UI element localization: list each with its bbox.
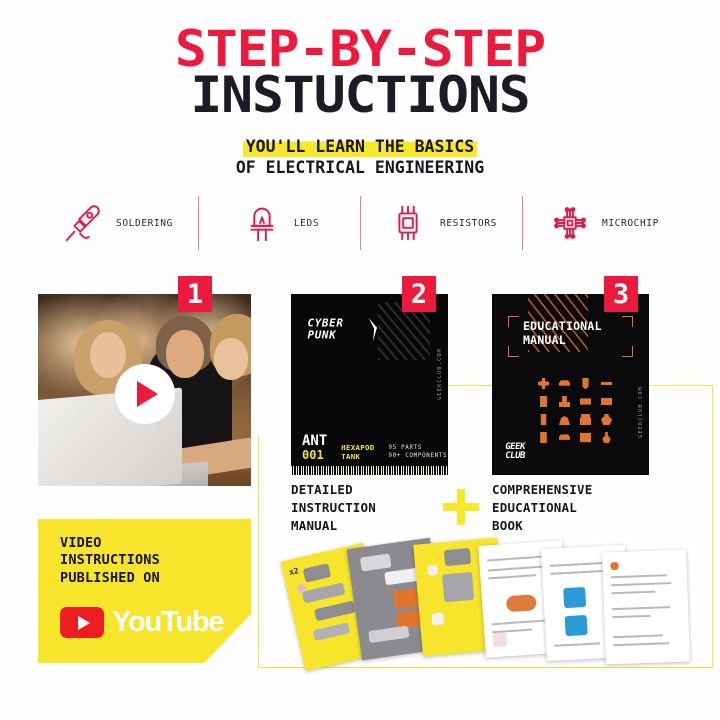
plus-icon <box>443 489 479 525</box>
subtitle-line-1: YOU'LL LEARN THE BASICS <box>243 138 477 157</box>
feature-leds: LEDS <box>198 190 360 256</box>
component-icon <box>580 378 591 389</box>
component-icon <box>538 414 549 425</box>
geek-club-logo: GEEK CLUB <box>505 443 525 461</box>
page-art <box>565 615 588 636</box>
corner-bracket-bl <box>508 346 519 357</box>
page-label: x2 <box>288 566 299 577</box>
page-art <box>444 548 471 566</box>
feature-resistors: RESISTORS <box>360 190 522 256</box>
corner-bracket-br <box>622 346 633 357</box>
youtube-wordmark: YouTube <box>112 606 223 639</box>
book-title: EDUCATIONAL MANUAL <box>523 320 602 347</box>
book-title-line-2: MANUAL <box>523 334 602 348</box>
led-icon <box>239 200 285 246</box>
caption-instruction-manual: DETAILED INSTRUCTION MANUAL <box>291 481 376 535</box>
variant-line-2: TANK <box>341 452 374 461</box>
youtube-play-icon <box>60 607 104 638</box>
feature-list: SOLDERING LEDS <box>36 190 684 256</box>
person-2-face <box>166 330 204 378</box>
video-thumbnail[interactable] <box>38 294 251 486</box>
caption-right-line-2: EDUCATIONAL <box>492 499 592 517</box>
page-art <box>563 587 586 608</box>
caption-right-line-1: COMPREHENSIVE <box>492 481 592 499</box>
page-spread: x2 <box>292 532 692 677</box>
step-badge-3: 3 <box>604 276 638 312</box>
component-icon <box>559 378 570 389</box>
component-icon <box>601 396 612 407</box>
logo-slash <box>369 318 377 341</box>
person-1-face <box>90 332 126 378</box>
caption-left-line-2: INSTRUCTION <box>291 499 376 517</box>
person-3-face <box>214 338 248 380</box>
play-icon <box>137 381 158 407</box>
educational-book-cover: EDUCATIONAL MANUAL GEEKCLUB.COM GEEK CLU… <box>492 294 649 475</box>
component-icon <box>601 378 612 389</box>
feature-label-leds: LEDS <box>294 218 319 229</box>
subtitle-line-2: OF ELECTRICAL ENGINEERING <box>0 158 720 178</box>
youtube-line-3: PUBLISHED ON <box>60 570 160 587</box>
book-website: GEEKCLUB.COM <box>638 386 644 438</box>
page-art <box>427 565 438 576</box>
model-name: ANT <box>302 434 327 448</box>
variant-block: HEXAPOD TANK <box>341 443 374 461</box>
caption-educational-book: COMPREHENSIVE EDUCATIONAL BOOK <box>492 481 592 535</box>
brand-line-2: PUNK <box>307 329 337 342</box>
soldering-iron-icon <box>61 200 107 246</box>
page-art <box>303 563 331 582</box>
step-badge-1: 1 <box>178 276 212 312</box>
component-icon <box>559 432 570 443</box>
youtube-panel[interactable]: VIDEO INSTRUCTIONS PUBLISHED ON YouTube <box>38 519 251 663</box>
barcode-strip <box>291 466 448 475</box>
youtube-panel-text: VIDEO INSTRUCTIONS PUBLISHED ON <box>60 535 160 587</box>
infographic-canvas: STEP-BY-STEP INSTUCTIONS YOU'LL LEARN TH… <box>0 0 720 720</box>
model-number: 001 <box>302 449 327 461</box>
spec-line-2: 90+ COMPONENTS <box>389 453 448 461</box>
page-art <box>492 632 507 647</box>
component-icon <box>601 414 612 425</box>
feature-label-resistors: RESISTORS <box>440 218 497 229</box>
cyberpunk-logo: CYBER PUNK <box>305 314 389 344</box>
corner-bracket-tr <box>622 316 633 327</box>
corner-bracket-tl <box>508 316 519 327</box>
page-art <box>368 626 409 643</box>
variant-line-1: HEXAPOD <box>341 443 374 452</box>
brand-line-1: CYBER <box>307 316 343 329</box>
microchip-icon <box>547 200 593 246</box>
component-icon <box>580 396 591 407</box>
youtube-line-1: VIDEO <box>60 535 160 552</box>
youtube-logo[interactable]: YouTube <box>60 606 223 639</box>
page-art <box>393 588 419 609</box>
component-icon <box>580 432 591 443</box>
logo-line-2: CLUB <box>504 452 525 461</box>
component-icon <box>580 414 591 425</box>
component-icon <box>559 396 570 407</box>
page-art <box>302 582 346 603</box>
subtitle: YOU'LL LEARN THE BASICS OF ELECTRICAL EN… <box>0 138 720 178</box>
manual-footer: ANT 001 HEXAPOD TANK 95 PARTS 90+ COMPON… <box>302 434 440 461</box>
feature-microchip: MICROCHIP <box>522 190 684 256</box>
feature-label-soldering: SOLDERING <box>116 218 173 229</box>
resistor-icon <box>385 200 431 246</box>
page-art <box>360 553 392 571</box>
component-icon-grid <box>538 378 614 443</box>
book-title-line-1: EDUCATIONAL <box>523 320 602 334</box>
page-art <box>506 594 537 612</box>
component-icon <box>559 414 570 425</box>
page-art <box>313 622 351 641</box>
step-badge-2: 2 <box>402 276 436 312</box>
feature-label-microchip: MICROCHIP <box>602 218 659 229</box>
instruction-manual-cover: CYBER PUNK GEEKCLUB.COM ANT 001 HEXAPOD … <box>291 294 448 475</box>
page-title: STEP-BY-STEP INSTUCTIONS <box>0 26 720 118</box>
youtube-line-2: INSTRUCTIONS <box>60 552 160 569</box>
page-art <box>610 562 618 570</box>
caption-left-line-1: DETAILED <box>291 481 376 499</box>
spread-page <box>602 550 690 665</box>
title-line-2: INSTUCTIONS <box>0 72 720 118</box>
play-button[interactable] <box>115 364 175 424</box>
component-icon <box>538 378 549 389</box>
spec-block: 95 PARTS 90+ COMPONENTS <box>389 445 448 461</box>
spec-line-1: 95 PARTS <box>389 445 448 453</box>
page-art <box>442 572 474 603</box>
component-icon <box>538 396 549 407</box>
feature-soldering: SOLDERING <box>36 190 198 256</box>
play-triangle <box>78 616 90 630</box>
component-icon <box>601 432 612 443</box>
model-block: ANT 001 <box>302 434 327 461</box>
page-art <box>314 601 356 622</box>
manual-website: GEEKCLUB.COM <box>437 348 443 400</box>
component-icon <box>538 432 549 443</box>
page-art <box>431 613 444 626</box>
page-art <box>384 568 419 586</box>
